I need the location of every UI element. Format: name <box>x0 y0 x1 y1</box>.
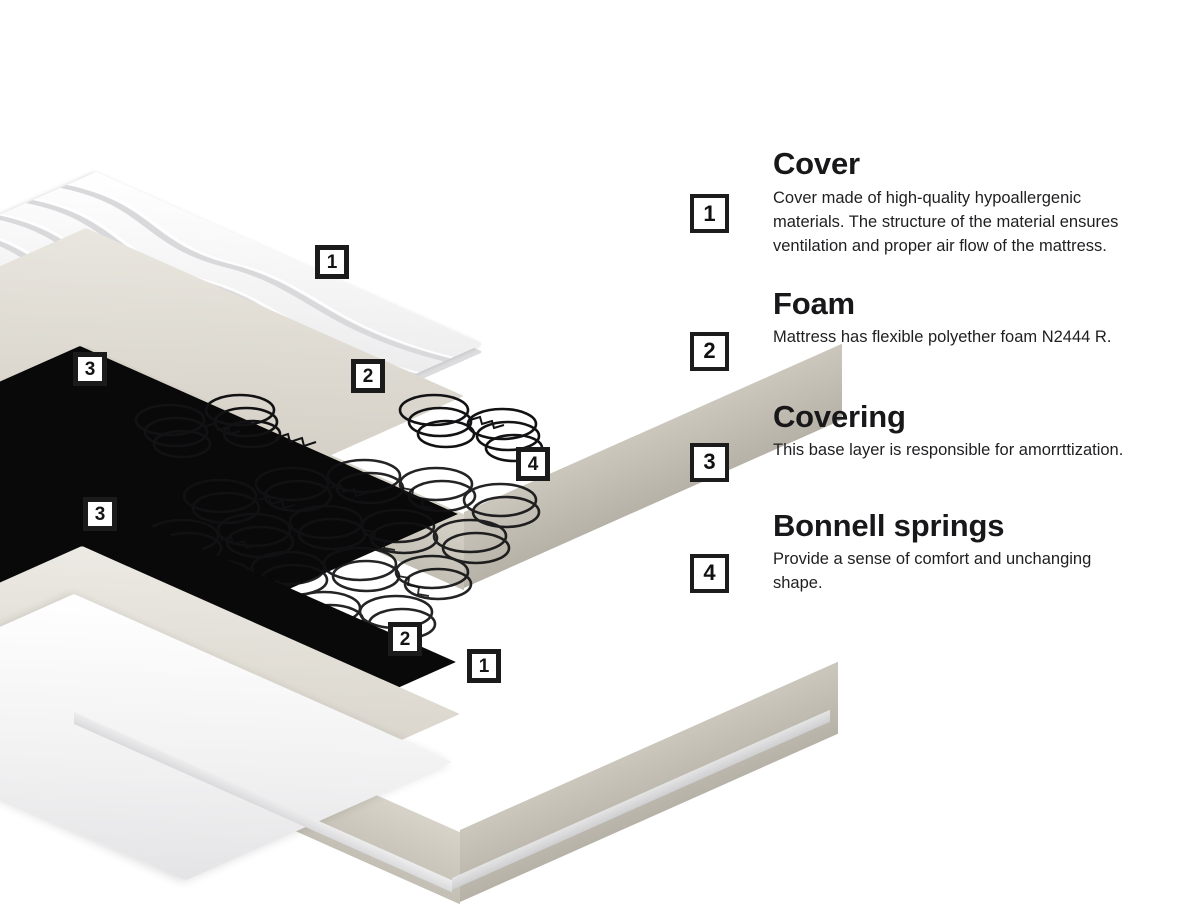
callout-covering-upper: 3 <box>73 352 107 386</box>
legend-body-3: Covering This base layer is responsible … <box>773 401 1123 463</box>
callout-foam-lower: 2 <box>388 622 422 656</box>
legend-item-covering: 3 Covering This base layer is responsibl… <box>690 401 1160 482</box>
legend-body-1: Cover Cover made of high-quality hypoall… <box>773 148 1145 258</box>
legend-number-2: 2 <box>690 332 729 371</box>
legend-panel: 1 Cover Cover made of high-quality hypoa… <box>690 148 1160 617</box>
callout-covering-lower: 3 <box>83 497 117 531</box>
legend-description-cover: Cover made of high-quality hypoallergeni… <box>773 186 1145 258</box>
legend-title-covering: Covering <box>773 401 1123 433</box>
legend-title-foam: Foam <box>773 288 1111 320</box>
legend-title-cover: Cover <box>773 148 1145 180</box>
legend-description-foam: Mattress has flexible polyether foam N24… <box>773 325 1111 349</box>
legend-number-4: 4 <box>690 554 729 593</box>
legend-description-bonnell-springs: Provide a sense of comfort and unchangin… <box>773 547 1145 595</box>
mattress-diagram: 1 2 3 4 3 2 1 <box>0 0 660 899</box>
legend-body-4: Bonnell springs Provide a sense of comfo… <box>773 510 1145 596</box>
callout-cover-bottom: 1 <box>467 649 501 683</box>
legend-item-bonnell-springs: 4 Bonnell springs Provide a sense of com… <box>690 510 1160 596</box>
callout-foam-upper: 2 <box>351 359 385 393</box>
legend-title-bonnell-springs: Bonnell springs <box>773 510 1145 542</box>
callout-cover-top: 1 <box>315 245 349 279</box>
legend-body-2: Foam Mattress has flexible polyether foa… <box>773 288 1111 350</box>
callout-springs: 4 <box>516 447 550 481</box>
legend-number-1: 1 <box>690 194 729 233</box>
base-cover-side-edge <box>452 710 830 890</box>
legend-item-cover: 1 Cover Cover made of high-quality hypoa… <box>690 148 1160 258</box>
legend-number-3: 3 <box>690 443 729 482</box>
legend-item-foam: 2 Foam Mattress has flexible polyether f… <box>690 288 1160 371</box>
legend-description-covering: This base layer is responsible for amorr… <box>773 438 1123 462</box>
